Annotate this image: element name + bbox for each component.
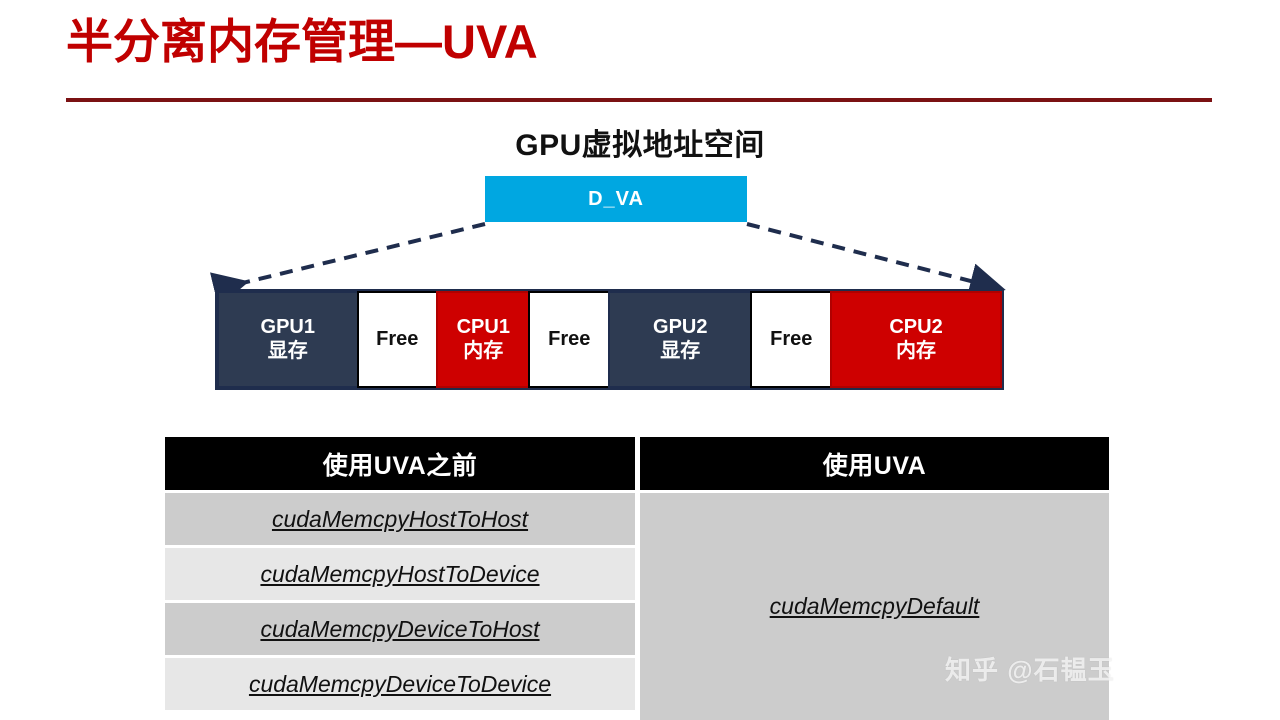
memory-block-label: CPU2 [889, 316, 942, 340]
memory-block-sublabel: 内存 [463, 340, 503, 364]
memory-block-free-1: Free [357, 291, 439, 388]
table-row: cudaMemcpyDeviceToHost [165, 603, 635, 655]
memory-block-label: CPU1 [457, 316, 510, 340]
connector-right [747, 224, 998, 288]
table-row: cudaMemcpyDeviceToDevice [165, 658, 635, 710]
memory-block-sublabel: 显存 [660, 340, 700, 364]
table-row: cudaMemcpyHostToDevice [165, 548, 635, 600]
diagram-heading: GPU虚拟地址空间 [0, 120, 1280, 164]
table-cell-default-copy-label: cudaMemcpyDefault [770, 593, 980, 620]
watermark: 知乎 @石韫玉 [945, 650, 1115, 687]
title-divider [66, 98, 1212, 102]
memory-block-label: Free [376, 328, 418, 352]
dva-box: D_VA [485, 176, 747, 222]
memory-block-label: GPU1 [261, 316, 315, 340]
table-row-label: cudaMemcpyDeviceToHost [260, 616, 539, 643]
table-header-before-uva: 使用UVA之前 [165, 437, 635, 490]
table-column-before-uva: 使用UVA之前 cudaMemcpyHostToHostcudaMemcpyHo… [165, 437, 635, 713]
table-row-label: cudaMemcpyHostToDevice [260, 561, 539, 588]
memory-block-gpu2: GPU2显存 [608, 291, 752, 388]
memory-block-label: Free [548, 328, 590, 352]
memory-block-sublabel: 显存 [268, 340, 308, 364]
slide-canvas: 半分离内存管理—UVA GPU虚拟地址空间 D_VA GPU1显存FreeCPU… [0, 0, 1280, 720]
memory-block-cpu2: CPU2内存 [830, 291, 1002, 388]
memory-block-free-5: Free [750, 291, 832, 388]
memory-block-gpu1: GPU1显存 [217, 291, 359, 388]
memory-block-label: Free [770, 328, 812, 352]
connector-left [222, 224, 485, 288]
dva-box-label: D_VA [588, 188, 644, 211]
table-body-before-uva: cudaMemcpyHostToHostcudaMemcpyHostToDevi… [165, 493, 635, 710]
memory-block-free-3: Free [528, 291, 610, 388]
memory-block-cpu1: CPU1内存 [436, 291, 530, 388]
table-row: cudaMemcpyHostToHost [165, 493, 635, 545]
memory-block-label: GPU2 [653, 316, 707, 340]
table-row-label: cudaMemcpyHostToHost [272, 506, 528, 533]
table-header-with-uva: 使用UVA [640, 437, 1109, 490]
page-title: 半分离内存管理—UVA [66, 16, 538, 69]
memory-layout-bar: GPU1显存FreeCPU1内存FreeGPU2显存FreeCPU2内存 [215, 289, 1004, 390]
table-row-label: cudaMemcpyDeviceToDevice [249, 671, 551, 698]
memory-block-sublabel: 内存 [896, 340, 936, 364]
